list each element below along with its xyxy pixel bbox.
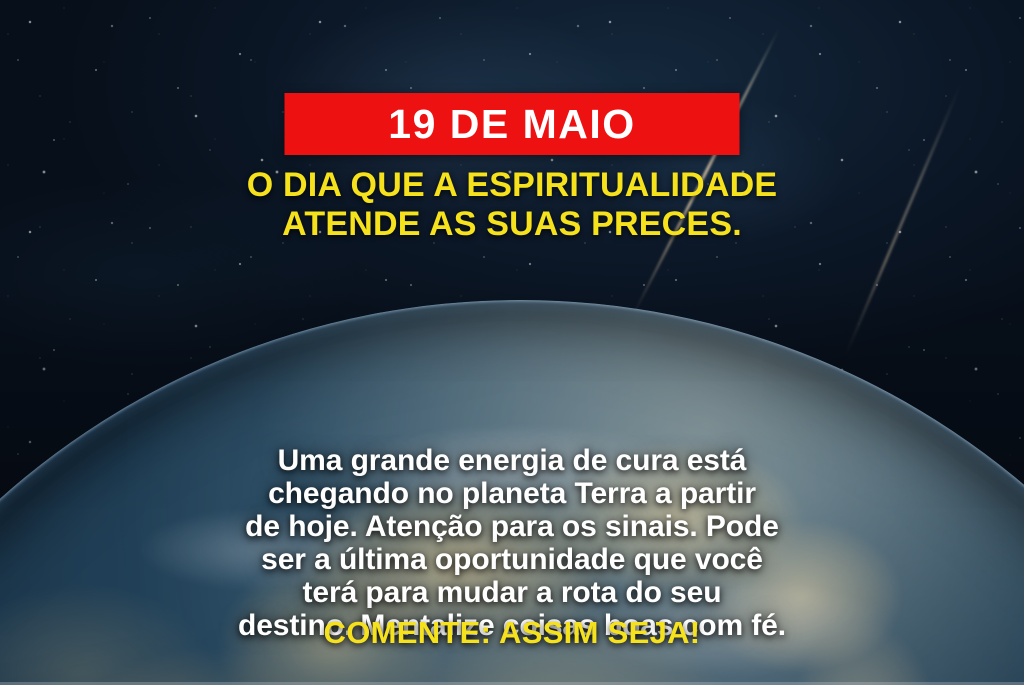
headline: O DIA QUE A ESPIRITUALIDADE ATENDE AS SU… (0, 166, 1024, 244)
body-copy: Uma grande energia de cura está chegando… (0, 444, 1024, 642)
date-badge-label: 19 DE MAIO (388, 104, 635, 145)
body-line-2: chegando no planeta Terra a partir (0, 477, 1024, 510)
body-line-1: Uma grande energia de cura está (0, 444, 1024, 477)
headline-line-1: O DIA QUE A ESPIRITUALIDADE (0, 166, 1024, 205)
body-line-5: terá para mudar a rota do seu (0, 576, 1024, 609)
headline-line-2: ATENDE AS SUAS PRECES. (0, 205, 1024, 244)
body-line-4: ser a última oportunidade que você (0, 543, 1024, 576)
date-badge: 19 DE MAIO (285, 93, 740, 155)
poster-canvas: 19 DE MAIO O DIA QUE A ESPIRITUALIDADE A… (0, 0, 1024, 685)
body-line-3: de hoje. Atenção para os sinais. Pode (0, 510, 1024, 543)
call-to-action-text: COMENTE: ASSIM SEJA! (0, 615, 1024, 650)
